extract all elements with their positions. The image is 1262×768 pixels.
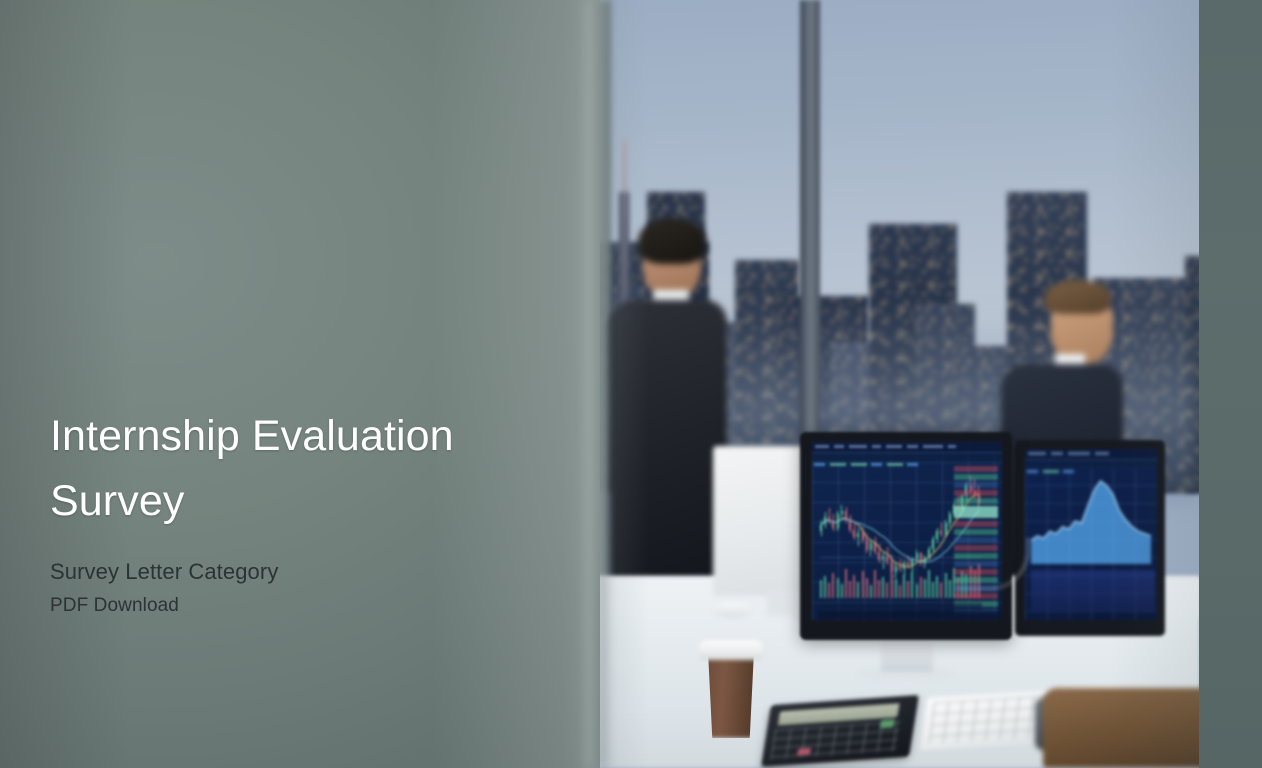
quote-row xyxy=(954,482,998,488)
volume-bar xyxy=(907,581,909,599)
volume-bar xyxy=(828,583,830,598)
right-color-strip xyxy=(1199,0,1262,768)
quote-row xyxy=(954,521,998,527)
wall-shading xyxy=(0,0,600,768)
volume-bar xyxy=(820,580,822,599)
volume-bar xyxy=(903,575,905,598)
volume-bar xyxy=(832,573,834,598)
volume-bar xyxy=(841,584,843,598)
wall-edge-highlight xyxy=(585,0,607,768)
volume-bar xyxy=(891,574,893,598)
trading-screen xyxy=(812,442,1002,620)
office-chair xyxy=(1043,688,1200,768)
quote-highlight xyxy=(954,506,998,518)
mouse xyxy=(713,602,753,618)
volume-bar xyxy=(940,583,942,599)
volume-bar xyxy=(824,576,826,598)
volume-bar xyxy=(945,573,947,598)
quote-row xyxy=(954,498,998,504)
monitor-stand xyxy=(881,636,933,672)
category-label: Survey Letter Category xyxy=(50,559,570,585)
terminal-tabs xyxy=(818,611,1002,619)
volume-bar xyxy=(866,578,868,598)
quote-row xyxy=(954,474,998,480)
coffee-cup xyxy=(705,654,757,738)
quote-row xyxy=(954,593,998,599)
volume-bar xyxy=(845,569,847,598)
volume-bar xyxy=(878,580,880,598)
volume-bar xyxy=(895,579,897,598)
coffee-cup-lid xyxy=(699,640,763,660)
volume-bar xyxy=(849,581,851,598)
volume-bar xyxy=(932,582,934,599)
trading-monitor xyxy=(800,432,1012,640)
area-chart-svg xyxy=(1031,478,1151,564)
download-label: PDF Download xyxy=(50,595,570,617)
volume-bar xyxy=(837,578,839,598)
slide-canvas: Internship Evaluation Survey Survey Lett… xyxy=(0,0,1262,768)
volume-bar xyxy=(899,585,901,598)
volume-bar xyxy=(936,576,938,598)
office-photo xyxy=(595,0,1200,768)
secondary-monitor xyxy=(1015,440,1165,636)
quote-row xyxy=(954,529,998,535)
volume-bar xyxy=(920,577,922,598)
quote-row xyxy=(954,466,998,472)
page-title: Internship Evaluation Survey xyxy=(50,404,570,535)
time-axis xyxy=(820,603,982,610)
volume-bar xyxy=(870,585,872,598)
quote-row xyxy=(954,490,998,496)
volume-bar xyxy=(882,577,884,598)
volume-bar xyxy=(911,572,913,598)
title-block: Internship Evaluation Survey Survey Lett… xyxy=(50,404,570,617)
volume-bar xyxy=(857,582,859,598)
volume-bar xyxy=(916,584,918,598)
volume-bar xyxy=(924,579,926,598)
volume-bar xyxy=(886,583,888,598)
volume-bar xyxy=(949,580,951,599)
volume-bar xyxy=(928,570,930,598)
imac-stand xyxy=(767,590,803,616)
terminal-toolbar xyxy=(812,442,1002,453)
ticker-bar xyxy=(812,453,1002,462)
volume-bar xyxy=(853,575,855,598)
volume-bar xyxy=(874,570,876,598)
calculator xyxy=(761,695,919,767)
volume-bar xyxy=(862,571,864,598)
